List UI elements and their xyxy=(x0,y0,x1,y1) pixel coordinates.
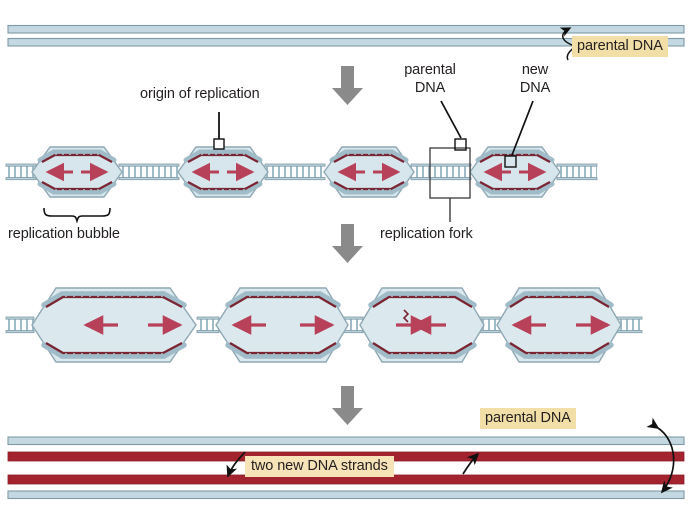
label-replication-fork: replication fork xyxy=(380,226,473,242)
daughter-strand-parental-top xyxy=(8,437,684,445)
figure-canvas xyxy=(0,0,692,508)
replication-bubble-3 xyxy=(324,147,414,197)
step-arrow-1 xyxy=(332,66,363,105)
replication-fork-box xyxy=(430,148,470,222)
replication-bubble-2 xyxy=(178,147,268,197)
label-parental-dna-line2: DNA xyxy=(390,80,470,96)
step-arrow-3 xyxy=(332,386,363,425)
label-origin-of-replication: origin of replication xyxy=(140,86,260,102)
row3-replication-bubbles xyxy=(6,288,642,362)
replication-bubble-brace xyxy=(44,208,110,221)
step-arrow-2 xyxy=(332,224,363,263)
label-replication-bubble: replication bubble xyxy=(8,226,120,242)
replication-bubble-4 xyxy=(470,147,560,197)
origin-of-replication-marker xyxy=(214,112,224,149)
dna-replication-figure: parental DNA origin of replication paren… xyxy=(0,0,692,508)
parental-dna-callout-box xyxy=(441,101,466,150)
label-two-new-dna-strands: two new DNA strands xyxy=(245,456,394,477)
replication-bubble-large-3 xyxy=(360,288,484,362)
replication-bubble-large-2 xyxy=(216,288,348,362)
label-new-dna-line1: new xyxy=(500,62,570,78)
daughter-strand-parental-bottom xyxy=(8,491,684,499)
label-new-dna-line2: DNA xyxy=(500,80,570,96)
replication-bubble-large-4 xyxy=(497,288,621,362)
label-parental-dna-top: parental DNA xyxy=(572,36,668,57)
replication-bubble-large-1 xyxy=(32,288,196,362)
replication-bubble-1 xyxy=(32,147,122,197)
label-parental-dna-bottom: parental DNA xyxy=(480,408,576,429)
label-parental-dna-line1: parental xyxy=(390,62,470,78)
row2-replication-bubbles xyxy=(6,147,597,197)
